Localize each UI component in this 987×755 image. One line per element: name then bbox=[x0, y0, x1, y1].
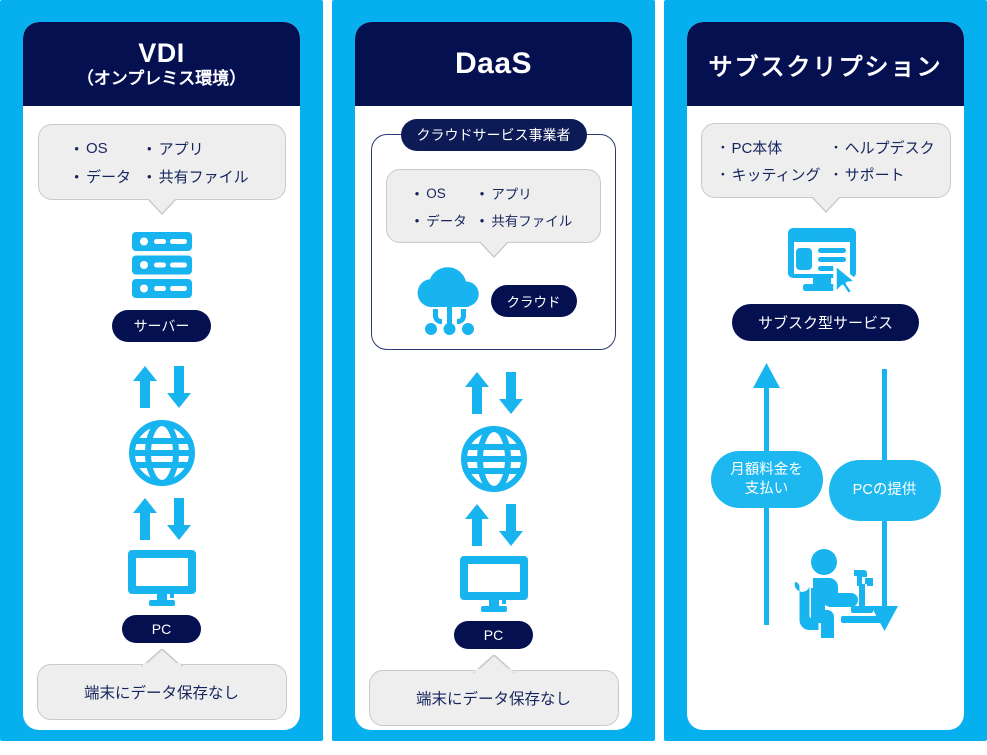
arrow-down-icon bbox=[498, 504, 524, 546]
flow-label-payment: 月額料金を 支払い bbox=[711, 451, 823, 508]
header-title: DaaS bbox=[455, 47, 532, 81]
bullet-dot: • bbox=[480, 187, 485, 200]
browser-cursor-icon bbox=[787, 226, 865, 296]
header-daas: DaaS bbox=[355, 22, 632, 106]
globe-icon bbox=[128, 419, 196, 487]
flow-arrows: 月額料金を 支払い PCの提供 bbox=[701, 363, 951, 653]
footer-note-label: 端末にデータ保存なし bbox=[84, 685, 239, 702]
bullet-dot: • bbox=[147, 142, 152, 155]
bullet-dot: • bbox=[147, 170, 152, 183]
arrow-down-icon bbox=[498, 372, 524, 414]
cloud-network-icon bbox=[411, 267, 487, 335]
list-item-label: OS bbox=[86, 140, 108, 157]
device-label-pc: PC bbox=[122, 615, 201, 643]
panel-subscription: サブスクリプション ・ PC本体 ・ ヘルプデスク ・ bbox=[664, 0, 987, 741]
node-label-cloud: クラウド bbox=[491, 285, 577, 317]
resource-list: • OS • アプリ • データ • 共有ファイ bbox=[53, 138, 271, 187]
bullet-dot: ・ bbox=[830, 141, 843, 154]
list-item: ・ キッティング bbox=[716, 164, 820, 185]
footer-note-label: 端末にデータ保存なし bbox=[416, 691, 571, 708]
device-label-pc: PC bbox=[454, 621, 533, 649]
server-icon bbox=[129, 229, 195, 301]
list-item: • アプリ bbox=[480, 183, 573, 203]
arrow-up-icon bbox=[132, 498, 158, 540]
header-vdi: VDI （オンプレミス環境） bbox=[23, 22, 300, 106]
arrows-up-down bbox=[132, 498, 192, 540]
provider-container: クラウドサービス事業者 • OS • アプリ bbox=[371, 134, 616, 350]
list-item: • OS bbox=[74, 138, 131, 159]
list-item-label: データ bbox=[426, 210, 467, 230]
desktop-pc-icon bbox=[128, 548, 196, 608]
comparison-diagram: VDI （オンプレミス環境） • OS • アプリ bbox=[0, 0, 987, 755]
desktop-pc-icon bbox=[460, 554, 528, 614]
bullet-dot: ・ bbox=[830, 168, 843, 181]
list-item-label: サポート bbox=[845, 164, 905, 185]
list-item-label: OS bbox=[426, 186, 446, 201]
list-item: • OS bbox=[415, 183, 467, 203]
resource-bubble-vdi: • OS • アプリ • データ • 共有ファイ bbox=[38, 124, 286, 200]
list-item: • アプリ bbox=[147, 138, 249, 159]
footer-note-daas: 端末にデータ保存なし bbox=[369, 670, 619, 726]
flow-label-line2: 支払い bbox=[727, 480, 807, 499]
bullet-dot: • bbox=[415, 187, 420, 200]
list-item-label: アプリ bbox=[159, 138, 204, 159]
node-label-server: サーバー bbox=[112, 310, 212, 342]
person-at-desk-icon bbox=[785, 548, 893, 640]
resource-list: • OS • アプリ • データ bbox=[401, 183, 586, 230]
list-item: • 共有ファイル bbox=[480, 210, 573, 230]
header-subtitle: （オンプレミス環境） bbox=[77, 69, 247, 89]
list-item: • データ bbox=[415, 210, 467, 230]
arrow-down-icon bbox=[166, 366, 192, 408]
bullet-dot: ・ bbox=[716, 168, 729, 181]
bullet-dot: • bbox=[480, 214, 485, 227]
resource-list: ・ PC本体 ・ ヘルプデスク ・ キッティング ・ bbox=[716, 137, 936, 185]
card-daas: DaaS クラウドサービス事業者 • OS • bbox=[355, 22, 632, 730]
list-item: ・ PC本体 bbox=[716, 137, 820, 158]
arrow-down-icon bbox=[166, 498, 192, 540]
flow-label-pc-provision: PCの提供 bbox=[829, 460, 941, 521]
flow-label-line1: 月額料金を bbox=[727, 461, 807, 480]
globe-icon bbox=[460, 425, 528, 493]
resource-bubble-daas: • OS • アプリ • データ bbox=[386, 169, 601, 243]
bullet-dot: ・ bbox=[716, 141, 729, 154]
header-title: サブスクリプション bbox=[709, 47, 943, 82]
list-item-label: ヘルプデスク bbox=[845, 137, 935, 158]
list-item-label: キッティング bbox=[731, 164, 820, 185]
arrow-up-icon bbox=[132, 366, 158, 408]
panel-daas: DaaS クラウドサービス事業者 • OS • bbox=[332, 0, 655, 741]
flow-label-line1: PCの提供 bbox=[839, 481, 931, 500]
bullet-dot: • bbox=[74, 142, 79, 155]
arrows-up-down bbox=[132, 366, 192, 408]
list-item-label: 共有ファイル bbox=[491, 210, 572, 230]
footer-note-vdi: 端末にデータ保存なし bbox=[37, 664, 287, 720]
card-vdi: VDI （オンプレミス環境） • OS • アプリ bbox=[23, 22, 300, 730]
list-item: • データ bbox=[74, 166, 131, 187]
bullet-dot: • bbox=[74, 170, 79, 183]
arrows-up-down bbox=[464, 504, 524, 546]
list-item-label: アプリ bbox=[491, 183, 532, 203]
bubble-tail-inner bbox=[812, 196, 840, 211]
list-item-label: 共有ファイル bbox=[159, 166, 249, 187]
arrows-up-down bbox=[464, 372, 524, 414]
arrow-up-icon bbox=[464, 504, 490, 546]
header-subscription: サブスクリプション bbox=[687, 22, 964, 106]
bullet-dot: • bbox=[415, 214, 420, 227]
provider-badge: クラウドサービス事業者 bbox=[401, 119, 587, 151]
list-item: • 共有ファイル bbox=[147, 166, 249, 187]
bubble-tail-inner bbox=[148, 198, 176, 213]
list-item: ・ ヘルプデスク bbox=[830, 137, 935, 158]
card-subscription: サブスクリプション ・ PC本体 ・ ヘルプデスク ・ bbox=[687, 22, 964, 730]
panel-vdi: VDI （オンプレミス環境） • OS • アプリ bbox=[0, 0, 323, 741]
bubble-tail-inner bbox=[480, 241, 508, 256]
list-item-label: データ bbox=[86, 166, 131, 187]
list-item: ・ サポート bbox=[830, 164, 935, 185]
list-item-label: PC本体 bbox=[731, 137, 782, 158]
resource-bubble-subscription: ・ PC本体 ・ ヘルプデスク ・ キッティング ・ bbox=[701, 123, 951, 198]
header-title: VDI bbox=[138, 38, 185, 68]
node-label-subscription: サブスク型サービス bbox=[732, 304, 919, 341]
arrow-up-icon bbox=[464, 372, 490, 414]
